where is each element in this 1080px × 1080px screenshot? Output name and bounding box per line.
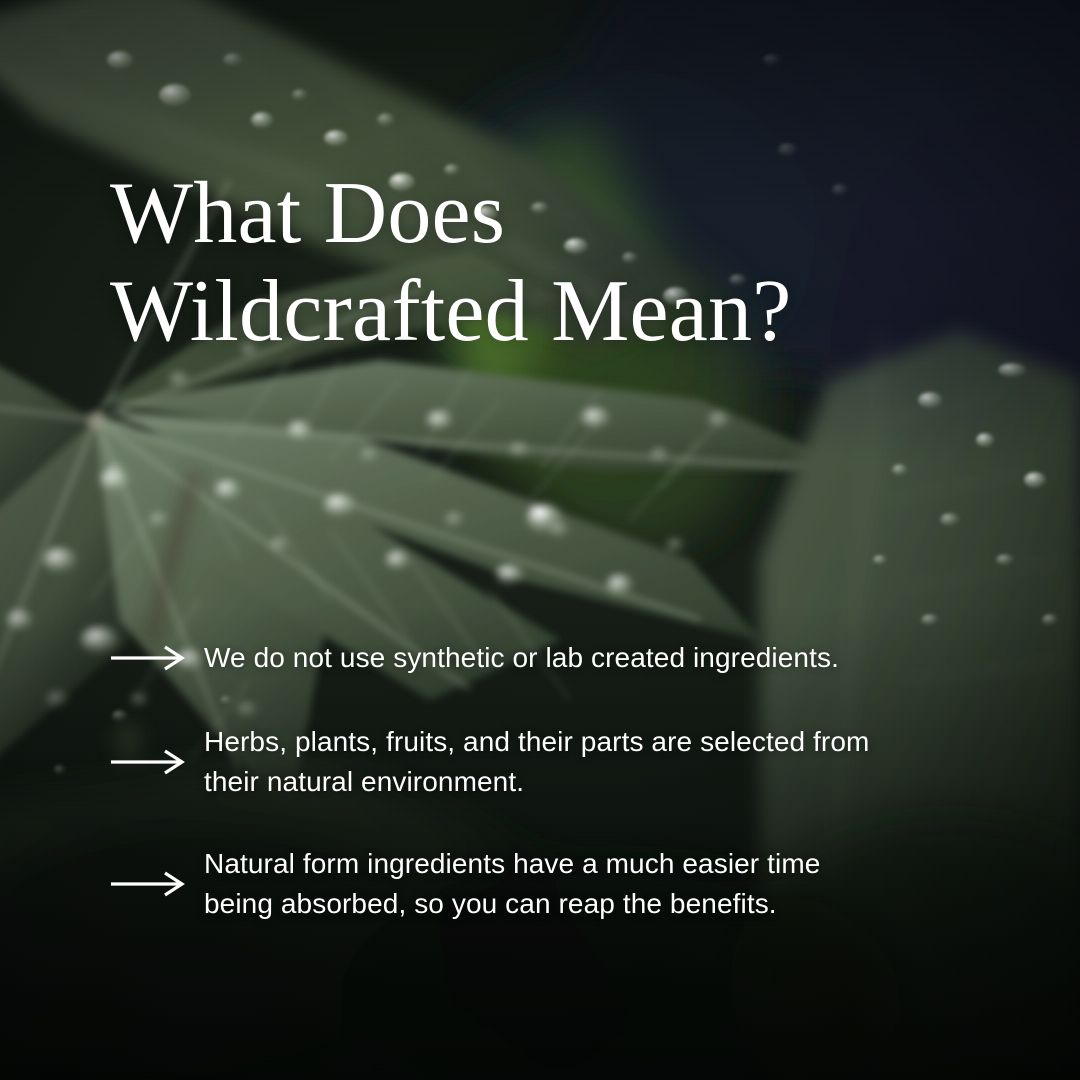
list-item: Herbs, plants, fruits, and their parts a…: [110, 722, 1010, 802]
page-title-line-1: What Does: [110, 165, 505, 262]
poster-content: What Does Wildcrafted Mean? We do not us…: [0, 0, 1080, 1080]
list-item: We do not use synthetic or lab created i…: [110, 636, 1010, 680]
list-item-text: We do not use synthetic or lab created i…: [204, 638, 839, 678]
page-title: What Does Wildcrafted Mean?: [110, 165, 970, 361]
page-title-line-2: Wildcrafted Mean?: [110, 263, 970, 361]
long-right-arrow-icon: [110, 749, 188, 775]
list-item-text: Natural form ingredients have a much eas…: [204, 844, 820, 924]
bullet-list: We do not use synthetic or lab created i…: [110, 636, 1010, 924]
list-item: Natural form ingredients have a much eas…: [110, 844, 1010, 924]
poster-canvas: What Does Wildcrafted Mean? We do not us…: [0, 0, 1080, 1080]
long-right-arrow-icon: [110, 645, 188, 671]
long-right-arrow-icon: [110, 871, 188, 897]
list-item-text: Herbs, plants, fruits, and their parts a…: [204, 722, 869, 802]
